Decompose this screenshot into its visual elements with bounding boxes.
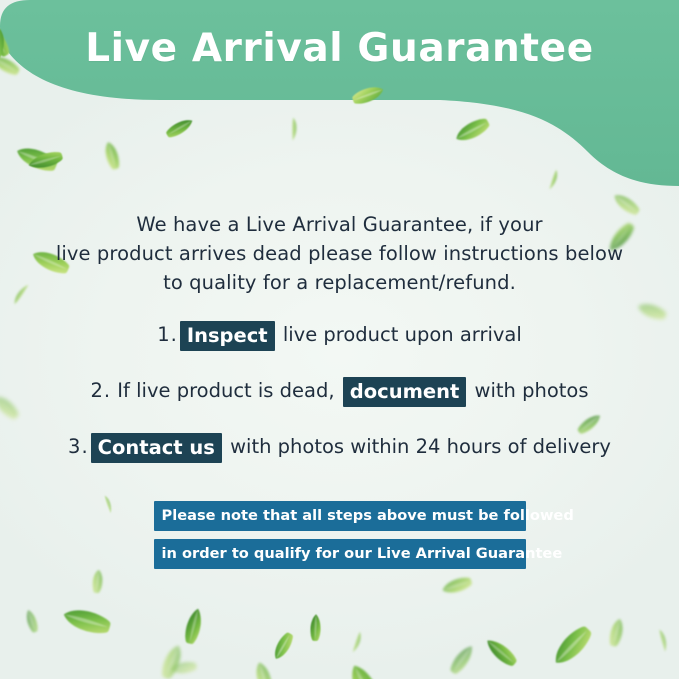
intro-line-1: We have a Live Arrival Guarantee, if you… <box>40 210 640 239</box>
content-area: We have a Live Arrival Guarantee, if you… <box>0 0 679 679</box>
step-number-3: 3. <box>68 435 89 458</box>
step-item-3: 3.Contact us with photos within 24 hours… <box>0 430 679 486</box>
steps-list: 1.Inspect live product upon arrival 2. I… <box>0 318 679 486</box>
step-item-1: 1.Inspect live product upon arrival <box>0 318 679 374</box>
step-highlight-2: document <box>343 377 467 407</box>
intro-paragraph: We have a Live Arrival Guarantee, if you… <box>40 210 640 297</box>
step-highlight-1: Inspect <box>180 321 275 351</box>
intro-line-2: live product arrives dead please follow … <box>40 239 640 268</box>
step-before-2: If live product is dead, <box>111 379 341 402</box>
step-after-2: with photos <box>468 379 588 402</box>
step-after-3: with photos within 24 hours of delivery <box>224 435 611 458</box>
step-item-2: 2. If live product is dead, document wit… <box>0 374 679 430</box>
step-number-2: 2. <box>91 379 112 402</box>
page-title: Live Arrival Guarantee <box>0 26 679 71</box>
intro-line-3: to quality for a replacement/refund. <box>40 268 640 297</box>
step-after-1: live product upon arrival <box>277 323 522 346</box>
note-banner-line-2: in order to qualify for our Live Arrival… <box>154 539 526 569</box>
step-number-1: 1. <box>157 323 178 346</box>
step-highlight-3: Contact us <box>91 433 222 463</box>
note-banner-group: Please note that all steps above must be… <box>154 501 526 569</box>
note-banner-line-1: Please note that all steps above must be… <box>154 501 526 531</box>
live-arrival-guarantee-graphic: Live Arrival Guarantee We have a Live Ar… <box>0 0 679 679</box>
